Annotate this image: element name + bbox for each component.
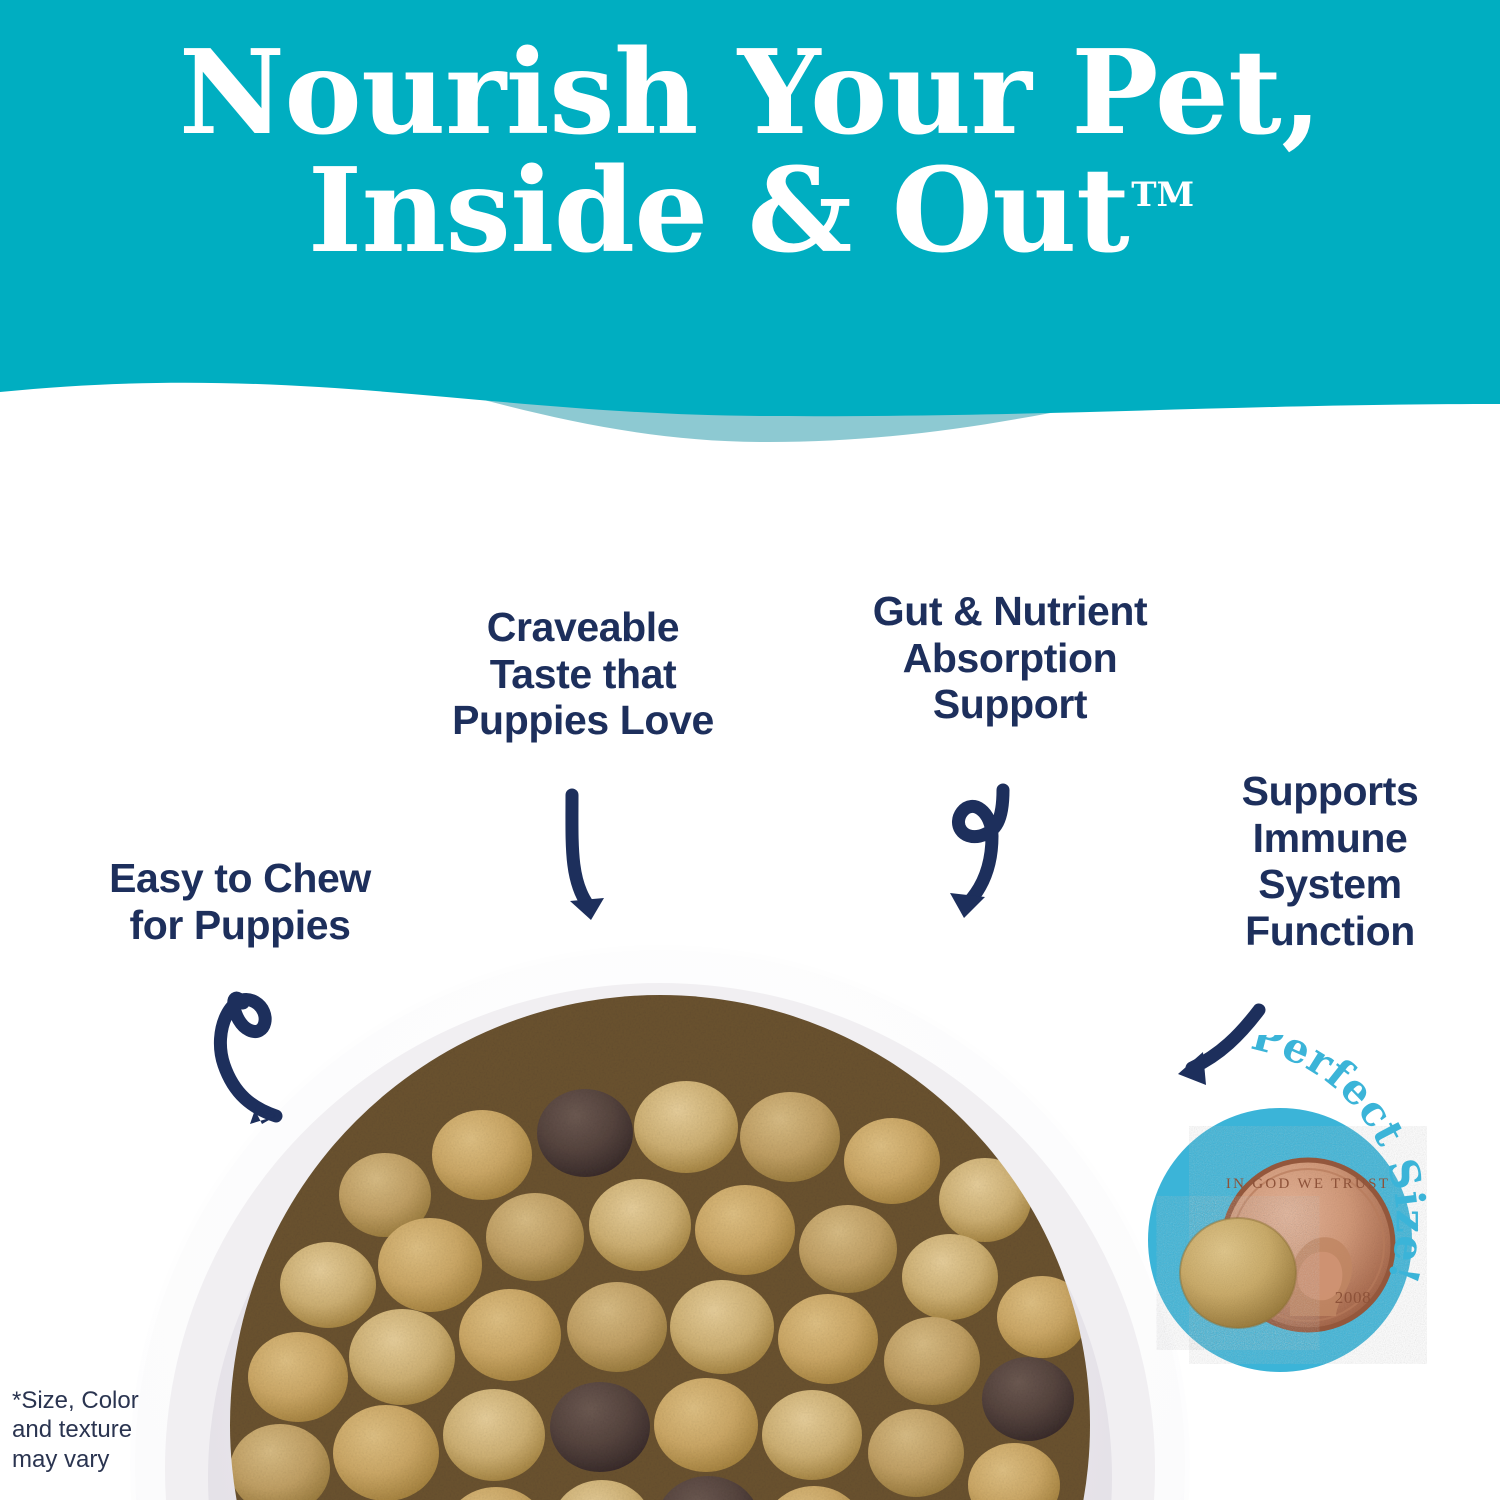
callout-line: Function (1180, 908, 1480, 955)
callout-line: Easy to Chew (30, 855, 450, 902)
callout-line: Absorption (810, 635, 1210, 682)
header-teal-shape (0, 0, 1500, 416)
callout-line: Craveable (398, 604, 768, 651)
callout-supports-immune-system: Supports Immune System Function (1180, 768, 1480, 955)
footnote-line: may vary (12, 1445, 182, 1474)
callout-easy-to-chew: Easy to Chew for Puppies (30, 855, 450, 948)
callout-line: System (1180, 861, 1480, 908)
callout-gut-nutrient-absorption: Gut & Nutrient Absorption Support (810, 588, 1210, 728)
callout-line: Immune (1180, 815, 1480, 862)
infographic-canvas: Nourish Your Pet, Inside & OutTM (0, 0, 1500, 1500)
pet-food-bowl-photo (130, 865, 1190, 1500)
callout-line: Supports (1180, 768, 1480, 815)
badge-arc-text-wrapper: Perfect Size! (1230, 1035, 1500, 1325)
header-banner (0, 0, 1500, 460)
callout-craveable-taste: Craveable Taste that Puppies Love (398, 604, 768, 744)
footnote-line: *Size, Color (12, 1386, 182, 1415)
footnote-disclaimer: *Size, Color and texture may vary (12, 1386, 182, 1474)
callout-line: Puppies Love (398, 697, 768, 744)
callout-line: Support (810, 681, 1210, 728)
callout-line: Gut & Nutrient (810, 588, 1210, 635)
badge-arc-text: Perfect Size! (1247, 1035, 1435, 1289)
callout-line: Taste that (398, 651, 768, 698)
footnote-line: and texture (12, 1415, 182, 1444)
callout-line: for Puppies (30, 902, 450, 949)
